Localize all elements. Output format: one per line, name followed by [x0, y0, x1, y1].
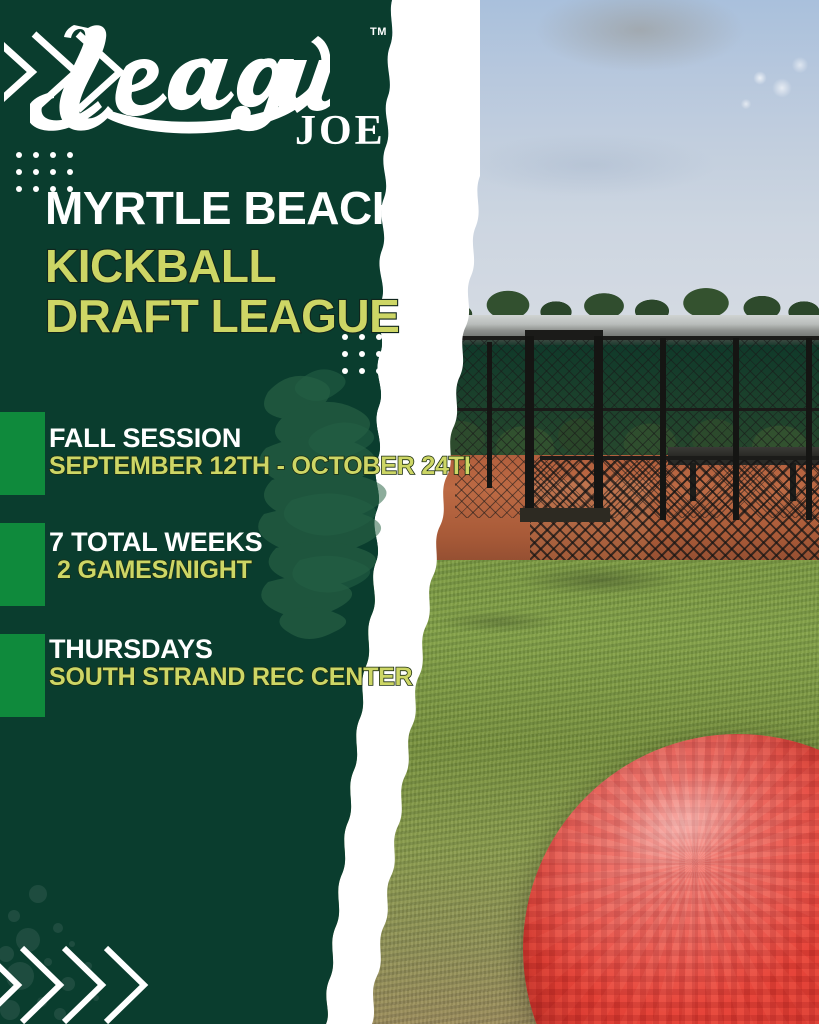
accent-bar-1	[0, 412, 45, 495]
fence-post-2	[660, 338, 666, 520]
green-content-panel: TM JOE MYRTLE BEACH KICKBALL DRAFT LEAGU…	[0, 0, 470, 1024]
fence-rail-low	[540, 456, 819, 460]
fence-post-3	[733, 338, 739, 520]
fence-rail-mid	[455, 408, 819, 411]
page-title-city: MYRTLE BEACH	[45, 185, 404, 231]
league-joe-logo: TM JOE	[30, 14, 370, 144]
league-script-wordmark-icon	[30, 14, 330, 134]
fence-post-4	[806, 338, 812, 520]
accent-bar-3	[0, 634, 45, 717]
kickball-league-flyer: TM JOE MYRTLE BEACH KICKBALL DRAFT LEAGU…	[0, 0, 819, 1024]
trademark-icon: TM	[370, 26, 387, 38]
info-row-title: THURSDAYS	[49, 635, 412, 663]
info-row-detail: SEPTEMBER 12TH - OCTOBER 24TH	[49, 453, 482, 481]
info-row-day-location: THURSDAYS SOUTH STRAND REC CENTER	[49, 635, 412, 692]
doorway-header	[525, 330, 603, 336]
fence-post-doorway-left	[525, 330, 534, 522]
info-row-weeks: 7 TOTAL WEEKS 2 GAMES/NIGHT	[49, 528, 262, 585]
fence-post-1	[487, 342, 492, 488]
fence-rail-top	[455, 336, 819, 340]
info-row-session: FALL SESSION SEPTEMBER 12TH - OCTOBER 24…	[49, 424, 482, 481]
fence-post-doorway-right	[594, 330, 603, 522]
page-title-line2: DRAFT LEAGUE	[45, 293, 399, 339]
info-row-detail: 2 GAMES/NIGHT	[49, 557, 262, 585]
chevron-arrows-right-bottom-icon	[0, 940, 156, 1024]
accent-bar-2	[0, 523, 45, 606]
info-row-title: 7 TOTAL WEEKS	[49, 528, 262, 556]
info-row-detail: SOUTH STRAND REC CENTER	[49, 664, 412, 692]
doorway-threshold	[520, 508, 610, 522]
page-title-line1: KICKBALL	[45, 243, 276, 289]
info-row-title: FALL SESSION	[49, 424, 482, 452]
joe-wordmark: JOE	[295, 110, 386, 152]
